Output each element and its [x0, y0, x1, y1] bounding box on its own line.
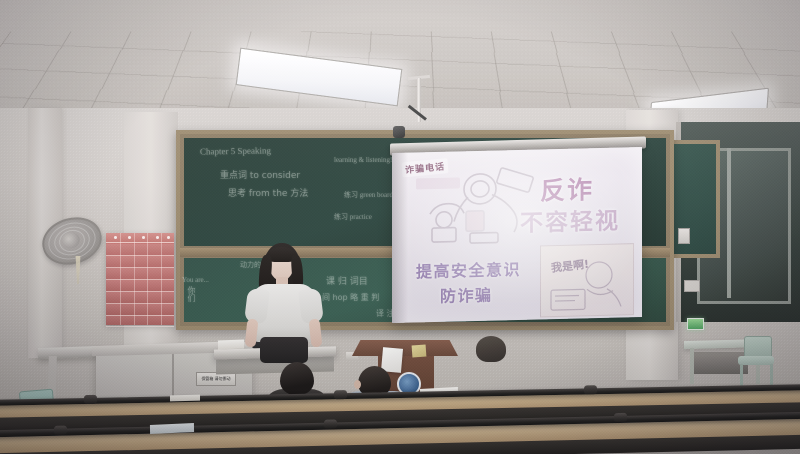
side-chair-leg: [740, 364, 743, 386]
classroom-scene: Chapter 5 Speaking learning & listening!…: [0, 0, 800, 454]
presenter-arm-right: [309, 319, 323, 348]
student-head: [280, 362, 314, 395]
window-mullion: [727, 148, 731, 298]
student-ear: [354, 380, 361, 389]
chalk-line: 重点词 to consider: [220, 168, 300, 181]
slide-subtitle-line1: 提高安全意识: [416, 256, 521, 283]
side-blackboard: [668, 140, 720, 258]
slide-title-line2: 不容轻视: [520, 201, 620, 237]
desk-papers: [170, 395, 200, 402]
chalk-line: 间 hop 略 重 判: [322, 292, 379, 303]
student-head: [476, 336, 506, 362]
projection-screen: 诈骗电话 我是啊! 反诈 不容轻视 提高安全意识 防诈骗: [392, 147, 642, 323]
wall-notice: [678, 228, 690, 244]
chalk-line: You are...: [182, 276, 209, 284]
side-chair-leg: [770, 364, 773, 386]
phone-pocket-chart: [106, 233, 174, 325]
projector: [393, 126, 405, 138]
wall-text-note: [694, 258, 722, 276]
presenter-pants: [260, 337, 308, 363]
desk-papers: [150, 423, 194, 434]
chalk-line: 思考 from the 方法: [228, 186, 308, 199]
chalk-line: Chapter 5 Speaking: [200, 145, 271, 156]
lectern-top: [352, 340, 458, 356]
slide-subtitle-line2: 防诈骗: [440, 282, 493, 307]
exit-sign: [687, 318, 704, 330]
chalk-line: 你们: [186, 286, 197, 302]
pocket-chart-header: [106, 233, 174, 243]
secondary-illustration: 我是啊!: [540, 243, 634, 317]
screen-shadow-edge: [392, 153, 408, 323]
side-table-leg: [690, 348, 694, 384]
presenter-sleeve-left: [244, 288, 270, 324]
side-chair-seat: [738, 356, 774, 365]
presenter-arm-left: [245, 319, 259, 348]
chalk-line: learning & listening!: [334, 156, 392, 164]
wall-switch-plate[interactable]: [684, 280, 700, 292]
chalk-line: 练习 practice: [334, 212, 372, 222]
chalk-line: 课 归 词目: [326, 274, 368, 287]
chalk-line: 练习 green board: [344, 190, 393, 200]
presenter: [238, 243, 330, 363]
student-far: [476, 336, 510, 362]
lectern-sticker: [412, 345, 427, 358]
